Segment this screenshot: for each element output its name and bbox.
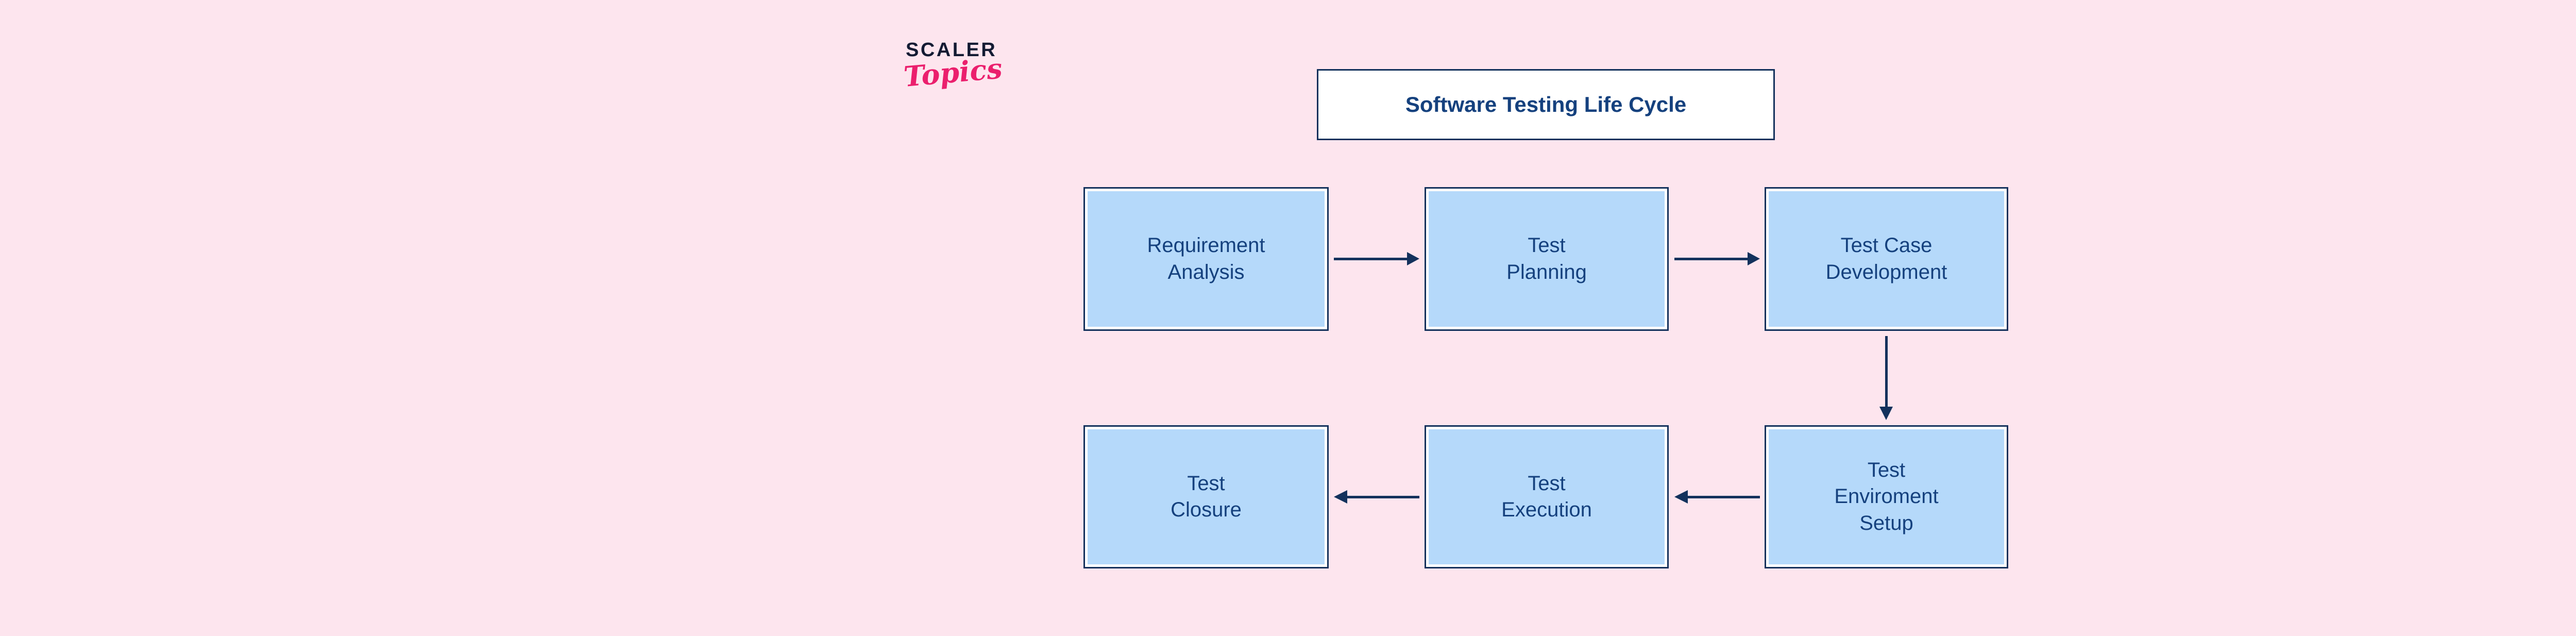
arrow-head: [1407, 252, 1419, 265]
arrow-left-icon-enviroment-setup-to-execution: [1674, 490, 1760, 504]
arrow-shaft: [1885, 336, 1888, 408]
arrow-shaft: [1334, 258, 1408, 260]
node-test-enviroment-setup: Test Enviroment Setup: [1765, 425, 2008, 568]
node-test-planning: Test Planning: [1425, 187, 1669, 331]
node-fill: Test Planning: [1429, 191, 1665, 327]
node-label: Test Case Development: [1821, 232, 1953, 285]
node-label: Test Closure: [1165, 471, 1247, 523]
node-test-case-development: Test Case Development: [1765, 187, 2008, 331]
arrow-shaft: [1674, 258, 1749, 260]
node-requirement-analysis: Requirement Analysis: [1083, 187, 1329, 331]
node-fill: Test Enviroment Setup: [1769, 429, 2004, 564]
diagram-canvas: SCALER Topics Software Testing Life Cycl…: [0, 0, 2576, 636]
arrow-shaft: [1346, 496, 1419, 498]
node-fill: Test Execution: [1429, 429, 1665, 564]
arrow-right-icon-requirement-to-planning: [1334, 252, 1419, 265]
diagram-title-box: Software Testing Life Cycle: [1317, 69, 1775, 140]
arrow-head: [1674, 490, 1688, 504]
arrow-head: [1334, 490, 1347, 504]
node-test-closure: Test Closure: [1083, 425, 1329, 568]
node-label: Requirement Analysis: [1142, 232, 1270, 285]
arrow-head: [1879, 407, 1893, 420]
arrow-down-icon-test-case-development-to-enviroment-setup: [1879, 336, 1893, 420]
node-fill: Requirement Analysis: [1088, 191, 1325, 327]
node-test-execution: Test Execution: [1425, 425, 1669, 568]
arrow-left-icon-execution-to-closure: [1334, 490, 1419, 504]
arrow-head: [1748, 252, 1760, 265]
arrow-right-icon-planning-to-test-case-development: [1674, 252, 1760, 265]
scaler-topics-logo: SCALER Topics: [903, 40, 1057, 125]
node-fill: Test Case Development: [1769, 191, 2004, 327]
logo-script-text: Topics: [903, 54, 1004, 90]
node-label: Test Planning: [1501, 232, 1592, 285]
node-label: Test Execution: [1496, 471, 1597, 523]
arrow-shaft: [1687, 496, 1760, 498]
diagram-title: Software Testing Life Cycle: [1405, 92, 1686, 117]
node-fill: Test Closure: [1088, 429, 1325, 564]
node-label: Test Enviroment Setup: [1829, 457, 1943, 537]
